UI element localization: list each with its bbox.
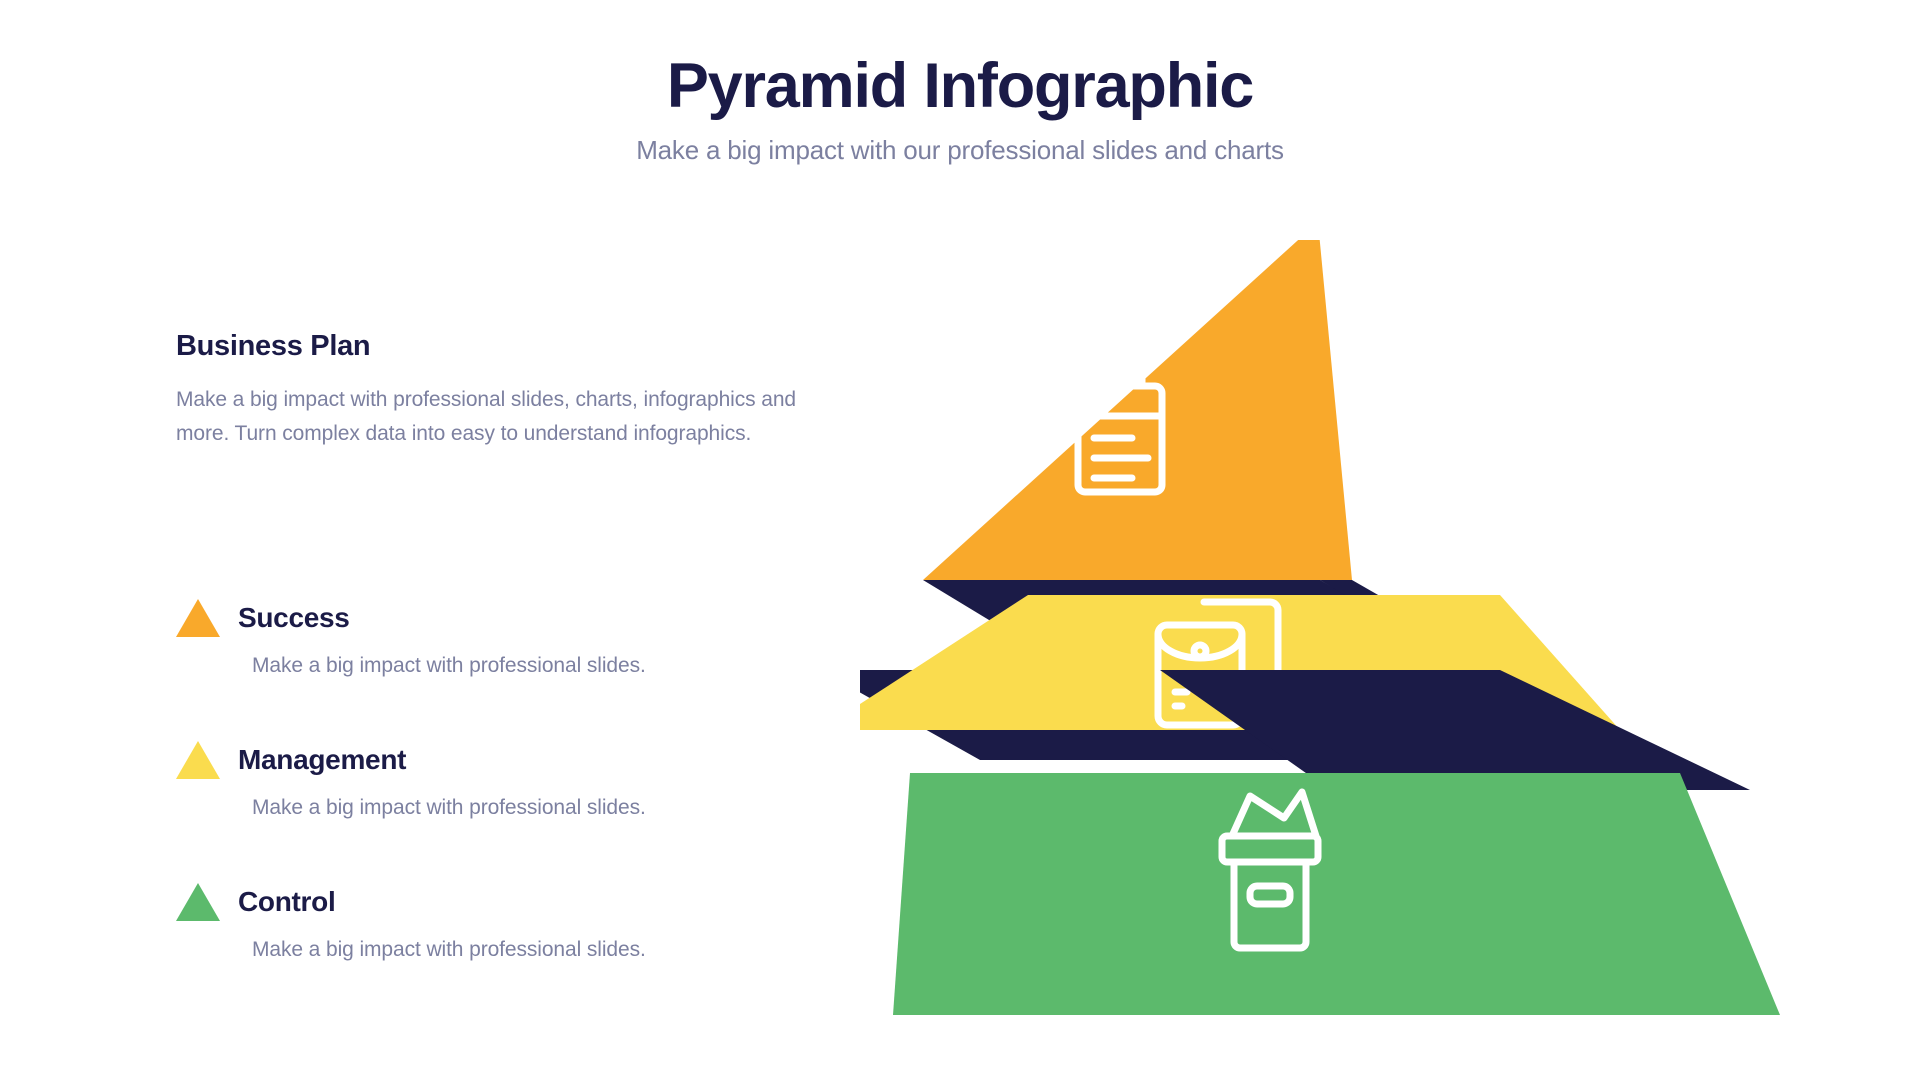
- triangle-marker-icon: [176, 599, 220, 637]
- intro-title: Business Plan: [176, 330, 816, 363]
- pyramid-level-bottom[interactable]: [893, 773, 1780, 1015]
- legend-list: Success Make a big impact with professio…: [176, 598, 836, 1024]
- legend-item-success[interactable]: Success Make a big impact with professio…: [176, 598, 836, 678]
- page-subtitle: Make a big impact with our professional …: [0, 121, 1920, 166]
- triangle-marker-icon: [176, 883, 220, 921]
- pyramid-level-bottom-shape: [893, 773, 1780, 1015]
- pyramid-shadow-lower-right: [1160, 670, 1750, 790]
- legend-item-control[interactable]: Control Make a big impact with professio…: [176, 882, 836, 962]
- legend-item-label: Management: [238, 744, 406, 776]
- legend-item-label: Success: [238, 602, 350, 634]
- pyramid-level-top[interactable]: [923, 240, 1352, 580]
- header: Pyramid Infographic Make a big impact wi…: [0, 0, 1920, 166]
- legend-item-label: Control: [238, 886, 335, 918]
- legend-item-description: Make a big impact with professional slid…: [176, 922, 836, 962]
- legend-head: Management: [176, 740, 836, 780]
- legend-item-management[interactable]: Management Make a big impact with profes…: [176, 740, 836, 820]
- pyramid-svg: [860, 240, 1790, 1050]
- pyramid-level-top-shape: [923, 240, 1352, 580]
- intro-block: Business Plan Make a big impact with pro…: [176, 330, 816, 451]
- pyramid-chart: [860, 240, 1790, 1050]
- legend-head: Control: [176, 882, 836, 922]
- intro-description: Make a big impact with professional slid…: [176, 363, 796, 451]
- triangle-marker-icon: [176, 741, 220, 779]
- legend-item-description: Make a big impact with professional slid…: [176, 638, 836, 678]
- page-title: Pyramid Infographic: [0, 0, 1920, 121]
- legend-head: Success: [176, 598, 836, 638]
- legend-item-description: Make a big impact with professional slid…: [176, 780, 836, 820]
